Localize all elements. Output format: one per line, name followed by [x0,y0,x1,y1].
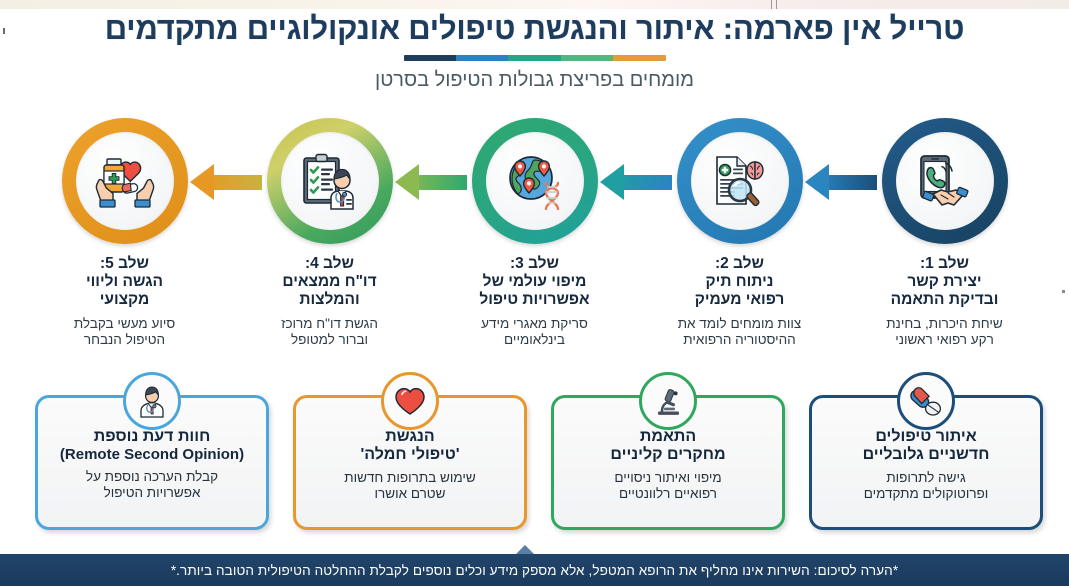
arrow-3-to-4 [395,164,467,200]
step-3-description: סריקת מאגרי מידע בינלאומיים [432,316,637,348]
card-compassionate-use[interactable]: הנגשת 'טיפולי חמלה' שימוש בתרופות חדשות … [293,395,527,530]
step-4-title: שלב 4: דו"ח ממצאים והמלצות [227,255,432,309]
step-2-title: שלב 2: ניתוח תיק רפואי מעמיק [637,255,842,309]
card-compassionate-use-description: שימוש בתרופות חדשות שטרם אושרו [296,470,524,502]
step-4-icon-ring [267,118,393,244]
card-global-treatments[interactable]: איתור טיפולים חדשניים גלובליים גישה לתרו… [809,395,1043,530]
card-clinical-trials-description: מיפוי ואיתור ניסויים רפואיים רלוונטיים [554,470,782,502]
globe-dna-icon [504,152,566,210]
rule-segment-navy [404,55,456,61]
page-title: טרייל אין פארמה: איתור והנגשת טיפולים או… [0,10,1069,48]
step-1-title: שלב 1: יצירת קשר ובדיקת התאמה [842,255,1047,309]
microscope-icon [639,372,697,430]
card-clinical-trials[interactable]: התאמת מחקרים קליניים מיפוי ואיתור ניסויי… [551,395,785,530]
step-2-description: צוות מומחים לומד את ההיסטוריה הרפואית [637,316,842,348]
step-2-icon-ring [677,118,803,244]
card-compassionate-use-title: הנגשת 'טיפולי חמלה' [296,428,524,465]
card-clinical-trials-title: התאמת מחקרים קליניים [554,428,782,465]
footer-notch [516,545,534,554]
edge-tick [776,0,777,9]
step-5-description: סיוע מעשי בקבלת הטיפול הנבחר [22,316,227,348]
card-second-opinion-description: קבלת הערכה נוספת על אפשרויות הטיפול [38,469,266,501]
card-second-opinion-title: חוות דעת נוספת (Remote Second Opinion) [38,428,266,464]
rule-segment-teal [508,55,560,61]
step-5-title: שלב 5: הגשה וליווי מקצועי [22,255,227,309]
card-global-treatments-description: גישה לתרופות ופרוטוקולים מתקדמים [812,470,1040,502]
rule-segment-blue [456,55,508,61]
arrow-2-to-3 [600,164,672,200]
phone-handshake-icon [915,152,975,210]
card-global-treatments-title: איתור טיפולים חדשניים גלובליים [812,428,1040,465]
step-5-icon-ring [62,118,188,244]
footer-note-text: *הערה לסיכום: השירות אינו מחליף את הרופא… [171,563,898,578]
step-4: שלב 4: דו"ח ממצאים והמלצות הגשת דו"ח מרו… [227,118,432,348]
step-3-title: שלב 3: מיפוי עולמי של אפשרויות טיפול [432,255,637,309]
footer-note-banner: *הערה לסיכום: השירות אינו מחליף את הרופא… [0,554,1069,586]
heart-icon [381,372,439,430]
clipboard-doctor-icon [300,152,360,210]
arrow-1-to-2 [805,164,877,200]
page-subtitle: מומחים בפריצת גבולות הטיפול בסרטן [0,69,1069,92]
hands-holding-medicine-icon [95,153,155,209]
step-3: שלב 3: מיפוי עולמי של אפשרויות טיפול סרי… [432,118,637,348]
pills-capsule-icon [897,372,955,430]
header: טרייל אין פארמה: איתור והנגשת טיפולים או… [0,10,1069,92]
step-2: שלב 2: ניתוח תיק רפואי מעמיק צוות מומחים… [637,118,842,348]
service-cards: חוות דעת נוספת (Remote Second Opinion) ק… [0,395,1069,535]
card-second-opinion[interactable]: חוות דעת נוספת (Remote Second Opinion) ק… [35,395,269,530]
rule-segment-light-green [561,55,613,61]
page-top-edge-artifact [0,0,1069,9]
step-1-description: שיחת היכרות, בחינת רקע רפואי ראשוני [842,316,1047,348]
edge-tick [771,0,772,9]
step-4-description: הגשת דו"ח מרוכז וברור למטופל [227,316,432,348]
doctor-avatar-icon [123,372,181,430]
step-3-icon-ring [472,118,598,244]
arrow-4-to-5 [190,164,262,200]
medical-file-magnifier-brain-icon [709,152,771,210]
step-1: שלב 1: יצירת קשר ובדיקת התאמה שיחת היכרו… [842,118,1047,348]
process-steps: שלב 5: הגשה וליווי מקצועי סיוע מעשי בקבל… [0,118,1069,368]
rule-segment-orange [613,55,665,61]
step-5: שלב 5: הגשה וליווי מקצועי סיוע מעשי בקבל… [22,118,227,348]
title-underline-bar [404,55,666,61]
step-1-icon-ring [882,118,1008,244]
